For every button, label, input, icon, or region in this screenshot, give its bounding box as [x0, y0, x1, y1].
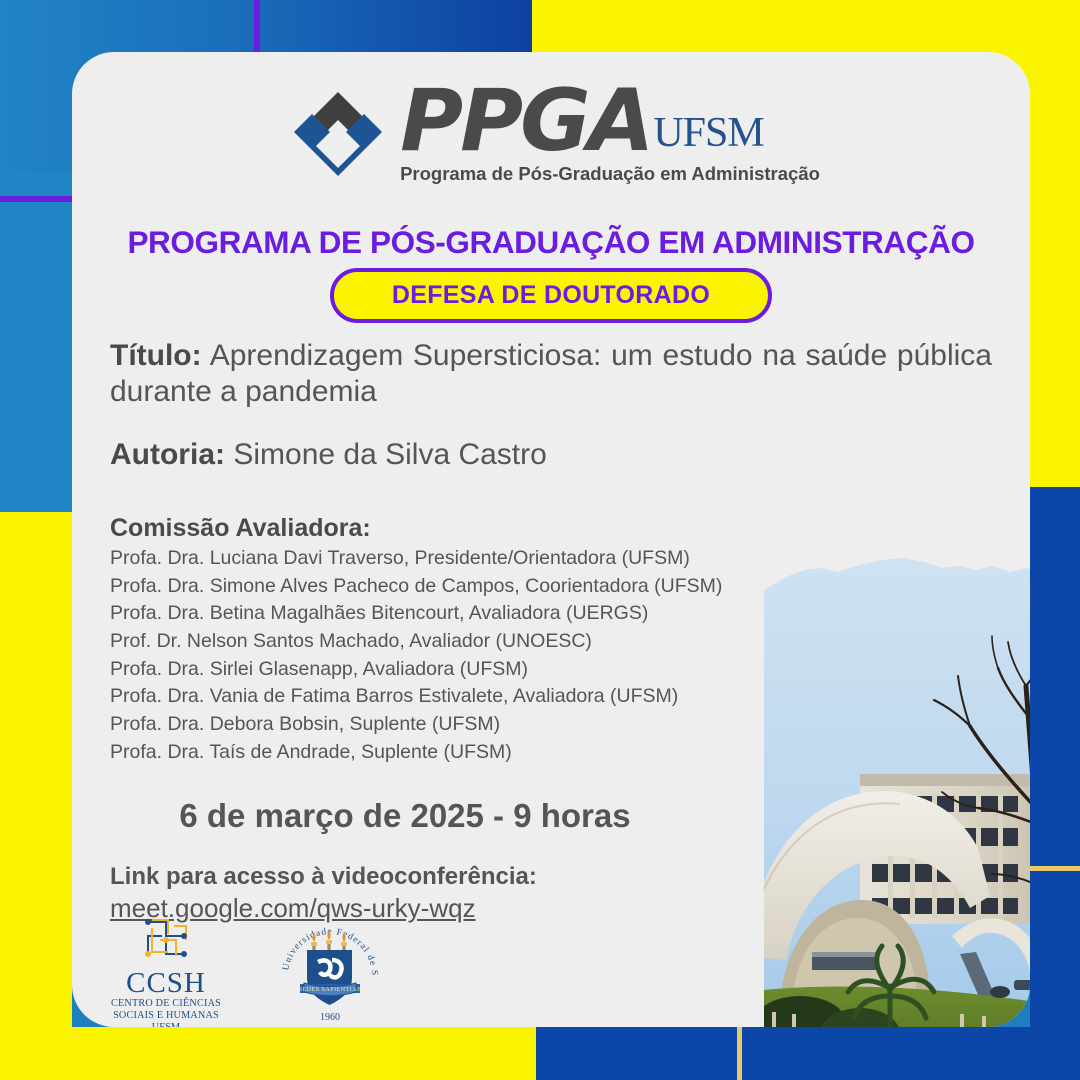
- program-title: PROGRAMA DE PÓS-GRADUAÇÃO EM ADMINISTRAÇ…: [72, 224, 1030, 261]
- list-item: Profa. Dra. Vania de Fatima Barros Estiv…: [110, 683, 738, 711]
- details-block: Título: Aprendizagem Supersticiosa: um e…: [110, 338, 738, 924]
- thesis-title-row: Título: Aprendizagem Supersticiosa: um e…: [110, 338, 992, 410]
- background-right-blue-strip: [1030, 487, 1080, 1080]
- accent-yellow-horizontal-line: [1030, 866, 1080, 871]
- ccsh-line3: UFSM: [110, 1022, 222, 1027]
- event-date-time: 6 de março de 2025 - 9 horas: [110, 797, 700, 835]
- poster-root: PPGA UFSM Programa de Pós-Graduação em A…: [0, 0, 1080, 1080]
- purple-accent-line-left: [0, 196, 78, 202]
- thesis-title-value: Aprendizagem Supersticiosa: um estudo na…: [110, 339, 992, 408]
- campus-photo: [764, 556, 1030, 1027]
- seal-year: 1960: [320, 1012, 340, 1023]
- seal-motto: SEDES SAPIENTIAE: [299, 986, 362, 993]
- logo-institution: UFSM: [653, 109, 763, 157]
- ppga-diamond-mark-icon: [282, 86, 394, 186]
- ccsh-line2: SOCIAIS E HUMANAS: [110, 1010, 222, 1022]
- ccsh-logo: CCSH CENTRO DE CIÊNCIAS SOCIAIS E HUMANA…: [110, 914, 222, 1027]
- committee-list: Profa. Dra. Luciana Davi Traverso, Presi…: [110, 545, 738, 767]
- videoconference-link-label: Link para acesso à videoconferência:: [110, 863, 738, 891]
- author-label: Autoria:: [110, 438, 225, 471]
- ccsh-line1: CENTRO DE CIÊNCIAS: [110, 998, 222, 1010]
- list-item: Profa. Dra. Taís de Andrade, Suplente (U…: [110, 739, 738, 767]
- author-row: Autoria: Simone da Silva Castro: [110, 438, 738, 472]
- list-item: Profa. Dra. Sirlei Glasenapp, Avaliadora…: [110, 656, 738, 684]
- author-value: Simone da Silva Castro: [233, 438, 546, 471]
- list-item: Profa. Dra. Betina Magalhães Bitencourt,…: [110, 600, 738, 628]
- defense-badge-wrapper: DEFESA DE DOUTORADO: [72, 268, 1030, 323]
- ufsm-shield-seal-icon: Universidade Federal de Santa Maria: [274, 914, 386, 1026]
- background-left-yellow-strip: [0, 512, 72, 1080]
- logo-wordmark: PPGA: [400, 82, 651, 161]
- content-card: PPGA UFSM Programa de Pós-Graduação em A…: [72, 52, 1030, 1027]
- ufsm-seal-logo: Universidade Federal de Santa Maria: [274, 914, 386, 1026]
- defense-badge: DEFESA DE DOUTORADO: [330, 268, 772, 323]
- list-item: Profa. Dra. Luciana Davi Traverso, Presi…: [110, 545, 738, 573]
- background-bottom-blue-band: [536, 1027, 1080, 1080]
- list-item: Profa. Dra. Simone Alves Pacheco de Camp…: [110, 573, 738, 601]
- list-item: Profa. Dra. Debora Bobsin, Suplente (UFS…: [110, 711, 738, 739]
- logo-subtitle: Programa de Pós-Graduação em Administraç…: [400, 163, 820, 185]
- background-right-yellow-strip: [1030, 0, 1080, 487]
- list-item: Prof. Dr. Nelson Santos Machado, Avaliad…: [110, 628, 738, 656]
- ppga-logo: PPGA UFSM Programa de Pós-Graduação em A…: [72, 82, 1030, 186]
- background-left-blue-strip: [0, 172, 72, 512]
- footer-logos: CCSH CENTRO DE CIÊNCIAS SOCIAIS E HUMANA…: [110, 914, 386, 1027]
- accent-yellow-vertical-line: [737, 1027, 742, 1080]
- thesis-title-label: Título:: [110, 339, 202, 372]
- ccsh-network-icon: [138, 914, 194, 962]
- committee-heading: Comissão Avaliadora:: [110, 514, 738, 543]
- background-bottom-yellow-band: [0, 1027, 536, 1080]
- ccsh-acronym: CCSH: [110, 969, 222, 998]
